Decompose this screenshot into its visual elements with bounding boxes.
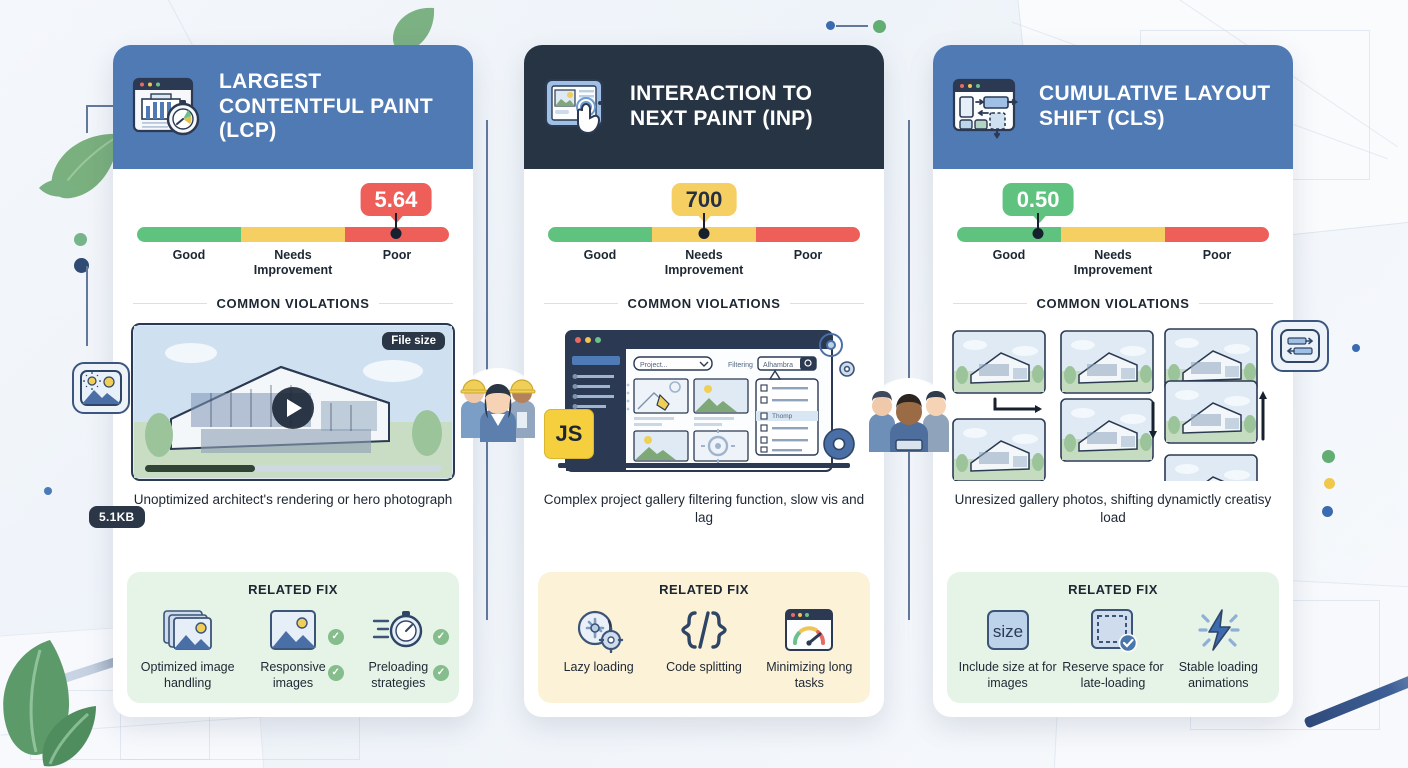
stacked-images-icon	[135, 603, 240, 657]
file-size-pill: 5.1KB	[89, 506, 145, 528]
gauge-label-good: Good	[548, 248, 652, 278]
violation-text-inp: Complex project gallery filtering functi…	[540, 491, 868, 527]
metric-card-cls[interactable]: CUMULATIVE LAYOUT SHIFT (CLS) 0.50 Good …	[933, 45, 1293, 717]
related-fix-panel-cls: RELATED FIX size Include size at for ima…	[947, 572, 1279, 703]
gauge-segment-good	[957, 227, 1061, 242]
fix-item-label: Stable loading animations	[1166, 659, 1271, 691]
card-header-inp: INTERACTION TO NEXT PAINT (INP)	[524, 45, 884, 169]
refresh-gear-icon	[546, 603, 651, 657]
violation-illustration-lcp: File size	[131, 323, 455, 481]
violations-heading: COMMON VIOLATIONS	[217, 296, 370, 311]
metric-value-badge-inp: 700	[672, 183, 737, 216]
fix-item-label: Optimized image handling	[135, 659, 240, 691]
section-title-violations-inp: COMMON VIOLATIONS	[544, 296, 864, 311]
gauge-bar-cls	[957, 227, 1269, 242]
fix-item[interactable]: Lazy loading	[546, 603, 651, 691]
fix-item[interactable]: size Include size at for images	[955, 603, 1060, 691]
divider-rule	[544, 303, 618, 304]
svg-text:Project...: Project...	[640, 362, 668, 369]
card-title-cls: CUMULATIVE LAYOUT SHIFT (CLS)	[1039, 82, 1275, 132]
fix-item-label: Include size at for images	[955, 659, 1060, 691]
architects-group-left-avatar	[455, 368, 541, 442]
card-title-lcp: LARGEST CONTENTFUL PAINT (LCP)	[219, 70, 455, 144]
gauge-needle-lcp	[395, 213, 397, 231]
lightning-bolt-icon	[1166, 603, 1271, 657]
related-fix-items: Lazy loading Code splitting	[546, 603, 862, 691]
card-header-cls: CUMULATIVE LAYOUT SHIFT (CLS)	[933, 45, 1293, 169]
gauge-bar-lcp	[137, 227, 449, 242]
tablet-tap-icon	[542, 75, 616, 139]
metric-value-badge-lcp: 5.64	[361, 183, 432, 216]
check-badge-icon: ✓	[328, 629, 344, 645]
violation-text-cls: Unresized gallery photos, shifting dynam…	[949, 491, 1277, 527]
violation-illustration-inp: Project... Filtering Alhambra	[542, 323, 866, 481]
svg-text:size: size	[993, 622, 1023, 641]
file-size-badge: File size	[382, 332, 445, 350]
check-badge-icon: ✓	[328, 665, 344, 681]
gauge-badge-row: 5.64	[137, 183, 449, 227]
related-fix-heading: RELATED FIX	[955, 582, 1271, 597]
gauge-needle-cls	[1037, 213, 1039, 231]
related-fix-heading: RELATED FIX	[135, 582, 451, 597]
dashed-placeholder-check-icon	[1060, 603, 1165, 657]
cards-board: LARGEST CONTENTFUL PAINT (LCP) 5.64 Good…	[0, 0, 1408, 768]
image-sun-chip-icon[interactable]	[72, 362, 130, 414]
gauge-label-needs: Needs Improvement	[1061, 248, 1165, 278]
section-title-violations-lcp: COMMON VIOLATIONS	[133, 296, 453, 311]
gauge-segment-needs	[1061, 227, 1165, 242]
fix-item[interactable]: Stable loading animations	[1166, 603, 1271, 691]
fix-item[interactable]: ✓ ✓ Preloading strategies	[346, 603, 451, 691]
gauge-segment-good	[137, 227, 241, 242]
gauge-labels-lcp: Good Needs Improvement Poor	[137, 248, 449, 278]
divider-rule	[1199, 303, 1273, 304]
metric-card-lcp[interactable]: LARGEST CONTENTFUL PAINT (LCP) 5.64 Good…	[113, 45, 473, 717]
js-badge-icon: JS	[544, 409, 594, 459]
gauge-label-needs: Needs Improvement	[241, 248, 345, 278]
gauge-segment-poor	[1165, 227, 1269, 242]
svg-text:Filtering: Filtering	[728, 362, 753, 369]
metric-card-inp[interactable]: INTERACTION TO NEXT PAINT (INP) 700 Good…	[524, 45, 884, 717]
swap-arrows-chip-icon[interactable]	[1271, 320, 1329, 372]
gauge-cls: 0.50 Good Needs Improvement Poor	[933, 169, 1293, 278]
fix-item-label: Minimizing long tasks	[757, 659, 862, 691]
gauge-label-good: Good	[137, 248, 241, 278]
divider-rule	[379, 303, 453, 304]
layout-shift-arrows-icon	[951, 75, 1025, 139]
dashboard-stopwatch-icon	[131, 75, 205, 139]
section-title-violations-cls: COMMON VIOLATIONS	[953, 296, 1273, 311]
related-fix-panel-lcp: RELATED FIX Optimized image handling	[127, 572, 459, 703]
size-attribute-icon: size	[955, 603, 1060, 657]
violation-text-lcp: Unoptimized architect's rendering or her…	[129, 491, 457, 509]
divider-rule	[790, 303, 864, 304]
svg-text:Thomp: Thomp	[772, 413, 793, 420]
fix-item[interactable]: ✓ ✓ Responsive images	[240, 603, 345, 691]
divider-rule	[953, 303, 1027, 304]
fix-item-label: Lazy loading	[546, 659, 651, 675]
gauge-inp: 700 Good Needs Improvement Poor	[524, 169, 884, 278]
gauge-badge-row: 0.50	[957, 183, 1269, 227]
related-fix-items: Optimized image handling ✓ ✓ Responsive …	[135, 603, 451, 691]
related-fix-heading: RELATED FIX	[546, 582, 862, 597]
fix-item[interactable]: Optimized image handling	[135, 603, 240, 691]
code-brackets-icon	[651, 603, 756, 657]
gauge-labels-cls: Good Needs Improvement Poor	[957, 248, 1269, 278]
fix-item[interactable]: Minimizing long tasks	[757, 603, 862, 691]
gauge-segment-good	[548, 227, 652, 242]
card-header-lcp: LARGEST CONTENTFUL PAINT (LCP)	[113, 45, 473, 169]
architects-group-right-avatar	[866, 378, 952, 452]
check-badge-icon: ✓	[433, 665, 449, 681]
check-badge-icon: ✓	[433, 629, 449, 645]
violations-heading: COMMON VIOLATIONS	[628, 296, 781, 311]
gauge-segment-poor	[756, 227, 860, 242]
violation-illustration-cls	[951, 323, 1275, 481]
related-fix-panel-inp: RELATED FIX	[538, 572, 870, 703]
gauge-segment-needs	[241, 227, 345, 242]
gauge-label-poor: Poor	[1165, 248, 1269, 278]
related-fix-items: size Include size at for images	[955, 603, 1271, 691]
violations-heading: COMMON VIOLATIONS	[1037, 296, 1190, 311]
fix-item-label: Reserve space for late-loading	[1060, 659, 1165, 691]
gauge-label-needs: Needs Improvement	[652, 248, 756, 278]
browser-speedometer-icon	[757, 603, 862, 657]
gauge-label-poor: Poor	[345, 248, 449, 278]
gauge-needle-inp	[703, 213, 705, 231]
fix-item[interactable]: Reserve space for late-loading	[1060, 603, 1165, 691]
gauge-label-good: Good	[957, 248, 1061, 278]
shifting-photo-grid	[951, 323, 1275, 481]
divider-rule	[133, 303, 207, 304]
gauge-label-poor: Poor	[756, 248, 860, 278]
gauge-lcp: 5.64 Good Needs Improvement Poor	[113, 169, 473, 278]
card-title-inp: INTERACTION TO NEXT PAINT (INP)	[630, 82, 866, 132]
fix-item-label: Code splitting	[651, 659, 756, 675]
metric-value-badge-cls: 0.50	[1003, 183, 1074, 216]
svg-text:Alhambra: Alhambra	[763, 362, 793, 369]
fix-item[interactable]: Code splitting	[651, 603, 756, 691]
gauge-labels-inp: Good Needs Improvement Poor	[548, 248, 860, 278]
